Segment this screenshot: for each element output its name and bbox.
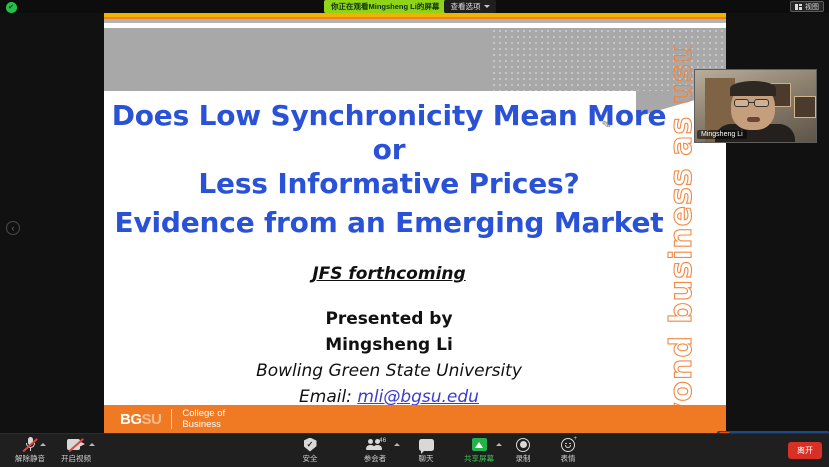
screen-share-notice-text: 你正在观看Mingsheng Li的屏幕	[324, 0, 446, 13]
toolbar-label-security: 安全	[303, 454, 318, 463]
left-letterbox-panel: ‹	[0, 13, 104, 433]
view-options-button[interactable]: 查看选项	[444, 0, 496, 13]
slide-title-line-3: Evidence from an Emerging Market	[115, 206, 664, 240]
view-layout-button[interactable]: 视图	[790, 1, 824, 12]
shield-icon: ✓	[304, 436, 317, 453]
slide-email-link[interactable]: mli@bgsu.edu	[357, 387, 479, 407]
zoom-meeting-window: ✔ 你正在观看Mingsheng Li的屏幕 查看选项 视图 ‹ beyond …	[0, 0, 829, 467]
start-video-chevron-up-icon[interactable]	[89, 443, 95, 446]
video-person-mouth	[747, 117, 760, 122]
toolbar-item-reactions[interactable]: + 表情	[540, 436, 596, 463]
toolbar-label-participants: 参会者	[364, 454, 387, 463]
toolbar-label-chat: 聊天	[419, 454, 434, 463]
footer-college-text: College of Business	[182, 408, 225, 430]
slide-journal-status: JFS forthcoming	[312, 264, 465, 284]
toolbar-item-participants[interactable]: 参会者	[347, 436, 403, 463]
slide-header-band	[104, 28, 726, 91]
toolbar-item-security[interactable]: ✓ 安全	[282, 436, 338, 463]
record-icon	[516, 436, 530, 453]
footer-college-line2: Business	[182, 419, 225, 430]
video-person-glasses-right	[754, 99, 769, 107]
slide-title-line-2: Less Informative Prices?	[198, 167, 579, 201]
meeting-toolbar: 解除静音 开启视频 ✓ 安全 参会者 46	[0, 433, 829, 467]
participant-name-label: Mingsheng Li	[697, 130, 747, 139]
toolbar-label-reactions: 表情	[561, 454, 576, 463]
participants-count-badge: 46	[379, 437, 386, 444]
toolbar-label-record: 录制	[516, 454, 531, 463]
video-picture-frame-2	[794, 96, 816, 118]
toolbar-item-start-video[interactable]: 开启视频	[48, 436, 104, 463]
video-person-glasses-bridge	[749, 102, 754, 103]
slide-title-line-1: Does Low Synchronicity Mean More or	[104, 99, 674, 167]
leave-meeting-button[interactable]: 离开	[788, 442, 822, 459]
slide-footer-banner: BGSU College of Business	[104, 405, 726, 433]
top-bar: ✔ 你正在观看Mingsheng Li的屏幕 查看选项 视图	[0, 0, 829, 13]
slide-presenter-name: Mingsheng Li	[325, 335, 453, 355]
security-shield-button[interactable]: ✔	[3, 1, 19, 13]
smiley-icon: +	[561, 436, 575, 453]
slide-text-block: Does Low Synchronicity Mean More or Less…	[104, 99, 674, 433]
shield-check-icon: ✔	[6, 2, 17, 13]
toolbar-label-share-screen: 共享屏幕	[464, 454, 494, 463]
microphone-muted-icon	[26, 436, 35, 453]
view-button-label: 视图	[805, 2, 819, 12]
footer-divider	[171, 409, 172, 429]
video-person-glasses-left	[734, 99, 749, 107]
slide-university: Bowling Green State University	[256, 361, 522, 381]
toolbar-label-start-video: 开启视频	[61, 454, 91, 463]
slide-presented-by-label: Presented by	[325, 309, 452, 329]
camera-muted-icon	[67, 436, 85, 453]
chat-bubble-icon	[419, 436, 434, 453]
pointer-annotation-icon: ✎	[601, 117, 617, 133]
share-screen-icon	[472, 436, 487, 453]
toolbar-label-unmute: 解除静音	[15, 454, 45, 463]
video-person-hair	[730, 81, 776, 96]
participant-video-thumbnail[interactable]: Mingsheng Li	[694, 69, 817, 143]
shared-screen-content: beyond business as usual Does Low Synchr…	[104, 13, 726, 433]
slide-email-label: Email:	[299, 387, 357, 407]
bgsu-logo: BGSU	[120, 411, 161, 428]
grid-layout-icon	[795, 4, 802, 10]
unmute-chevron-up-icon[interactable]	[40, 443, 46, 446]
footer-college-line1: College of	[182, 408, 225, 419]
chevron-down-icon	[484, 5, 490, 8]
collapse-left-arrow-icon[interactable]: ‹	[6, 221, 20, 235]
bgsu-logo-bold: BG	[120, 411, 142, 428]
slide-email-row: Email: mli@bgsu.edu	[299, 387, 479, 407]
screen-share-notice: 你正在观看Mingsheng Li的屏幕	[324, 0, 446, 13]
bgsu-logo-light: SU	[142, 411, 162, 428]
toolbar-item-chat[interactable]: 聊天	[398, 436, 454, 463]
view-options-label: 查看选项	[451, 1, 481, 12]
